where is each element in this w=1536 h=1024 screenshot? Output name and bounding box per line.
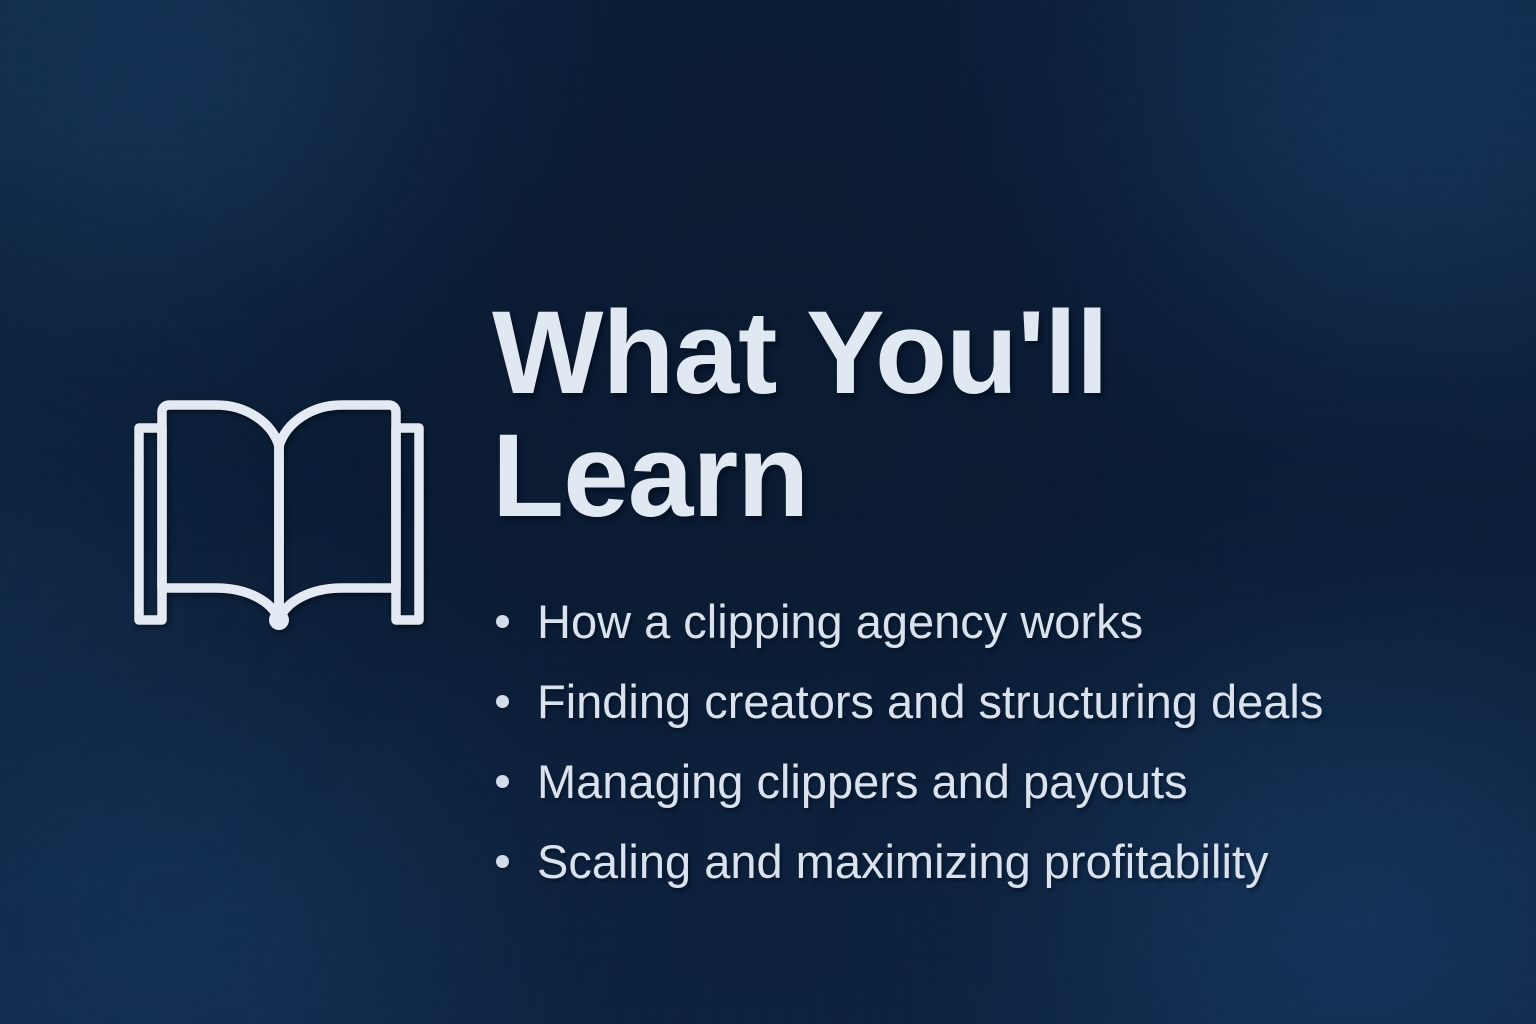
list-item: Managing clippers and payouts (492, 741, 1452, 821)
list-item: Scaling and maximizing profitability (492, 821, 1452, 901)
bullet-dot-icon (496, 615, 509, 628)
open-book-icon (126, 392, 432, 638)
list-item: Finding creators and structuring deals (492, 661, 1452, 741)
presentation-slide: What You'll Learn How a clipping agency … (0, 0, 1536, 1024)
slide-text-column: What You'll Learn How a clipping agency … (492, 292, 1452, 901)
list-item-label: How a clipping agency works (537, 598, 1143, 645)
bullet-dot-icon (496, 855, 509, 868)
slide-content: What You'll Learn How a clipping agency … (0, 0, 1536, 1024)
list-item-label: Finding creators and structuring deals (537, 678, 1323, 725)
slide-title: What You'll Learn (492, 292, 1132, 537)
bullet-dot-icon (496, 695, 509, 708)
list-item-label: Managing clippers and payouts (537, 758, 1188, 805)
learning-objectives-list: How a clipping agency works Finding crea… (492, 581, 1452, 901)
bullet-dot-icon (496, 775, 509, 788)
list-item: How a clipping agency works (492, 581, 1452, 661)
list-item-label: Scaling and maximizing profitability (537, 838, 1268, 885)
